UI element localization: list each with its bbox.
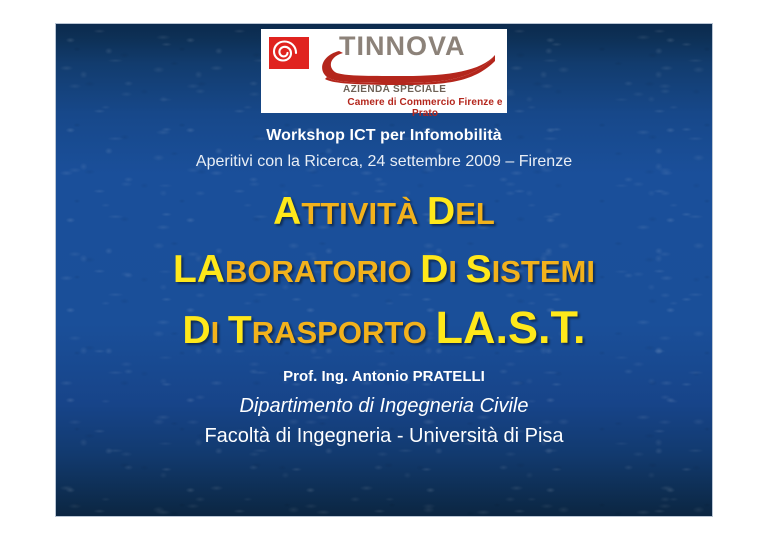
title-smallcaps: EL	[455, 196, 495, 231]
title-cap: S	[466, 248, 492, 291]
title-space	[457, 254, 466, 289]
workshop-heading: Workshop ICT per Infomobilità	[56, 127, 712, 145]
event-subheading: Aperitivi con la Ricerca, 24 settembre 2…	[56, 153, 712, 171]
title-smallcaps: ISTEMI	[492, 254, 595, 289]
title-smallcaps: I	[448, 254, 457, 289]
page-title: ATTIVITÀ DEL LABORATORIO DI SISTEMI DI T…	[56, 187, 712, 364]
title-space	[219, 315, 228, 350]
title-line-3: DI TRASPORTO LA.S.T.	[56, 303, 712, 364]
title-smallcaps: I	[211, 315, 220, 350]
spiral-icon	[269, 37, 309, 69]
title-cap: A	[273, 190, 301, 233]
logo-subtitle-azienda: AZIENDA SPECIALE	[343, 84, 446, 95]
tinnova-swoosh-icon	[309, 49, 501, 85]
author-department: Dipartimento di Ingegneria Civile	[56, 395, 712, 418]
title-cap: LA	[173, 248, 225, 291]
author-faculty: Facoltà di Ingegneria - Università di Pi…	[56, 425, 712, 448]
logo-subtitle-camere: Camere di Commercio Firenze e Prato	[343, 97, 507, 119]
title-smallcaps: BORATORIO	[225, 254, 412, 289]
title-smallcaps: RASPORTO	[252, 315, 427, 350]
title-space	[412, 254, 421, 289]
presentation-slide: TINNOVA AZIENDA SPECIALE Camere di Comme…	[55, 23, 713, 517]
title-cap: D	[427, 190, 455, 233]
title-line-2: LABORATORIO DI SISTEMI	[56, 245, 712, 303]
title-cap: D	[420, 248, 448, 291]
title-cap: D	[182, 309, 210, 352]
tinnova-logo: TINNOVA AZIENDA SPECIALE Camere di Comme…	[261, 29, 507, 113]
title-space	[418, 196, 427, 231]
title-cap: T	[228, 309, 252, 352]
slide-content: TINNOVA AZIENDA SPECIALE Camere di Comme…	[56, 24, 712, 516]
title-smallcaps: TTIVITÀ	[301, 196, 418, 231]
author-name: Prof. Ing. Antonio PRATELLI	[56, 368, 712, 385]
title-line-1: ATTIVITÀ DEL	[56, 187, 712, 245]
title-acronym-last: LA.S.T.	[435, 302, 585, 353]
